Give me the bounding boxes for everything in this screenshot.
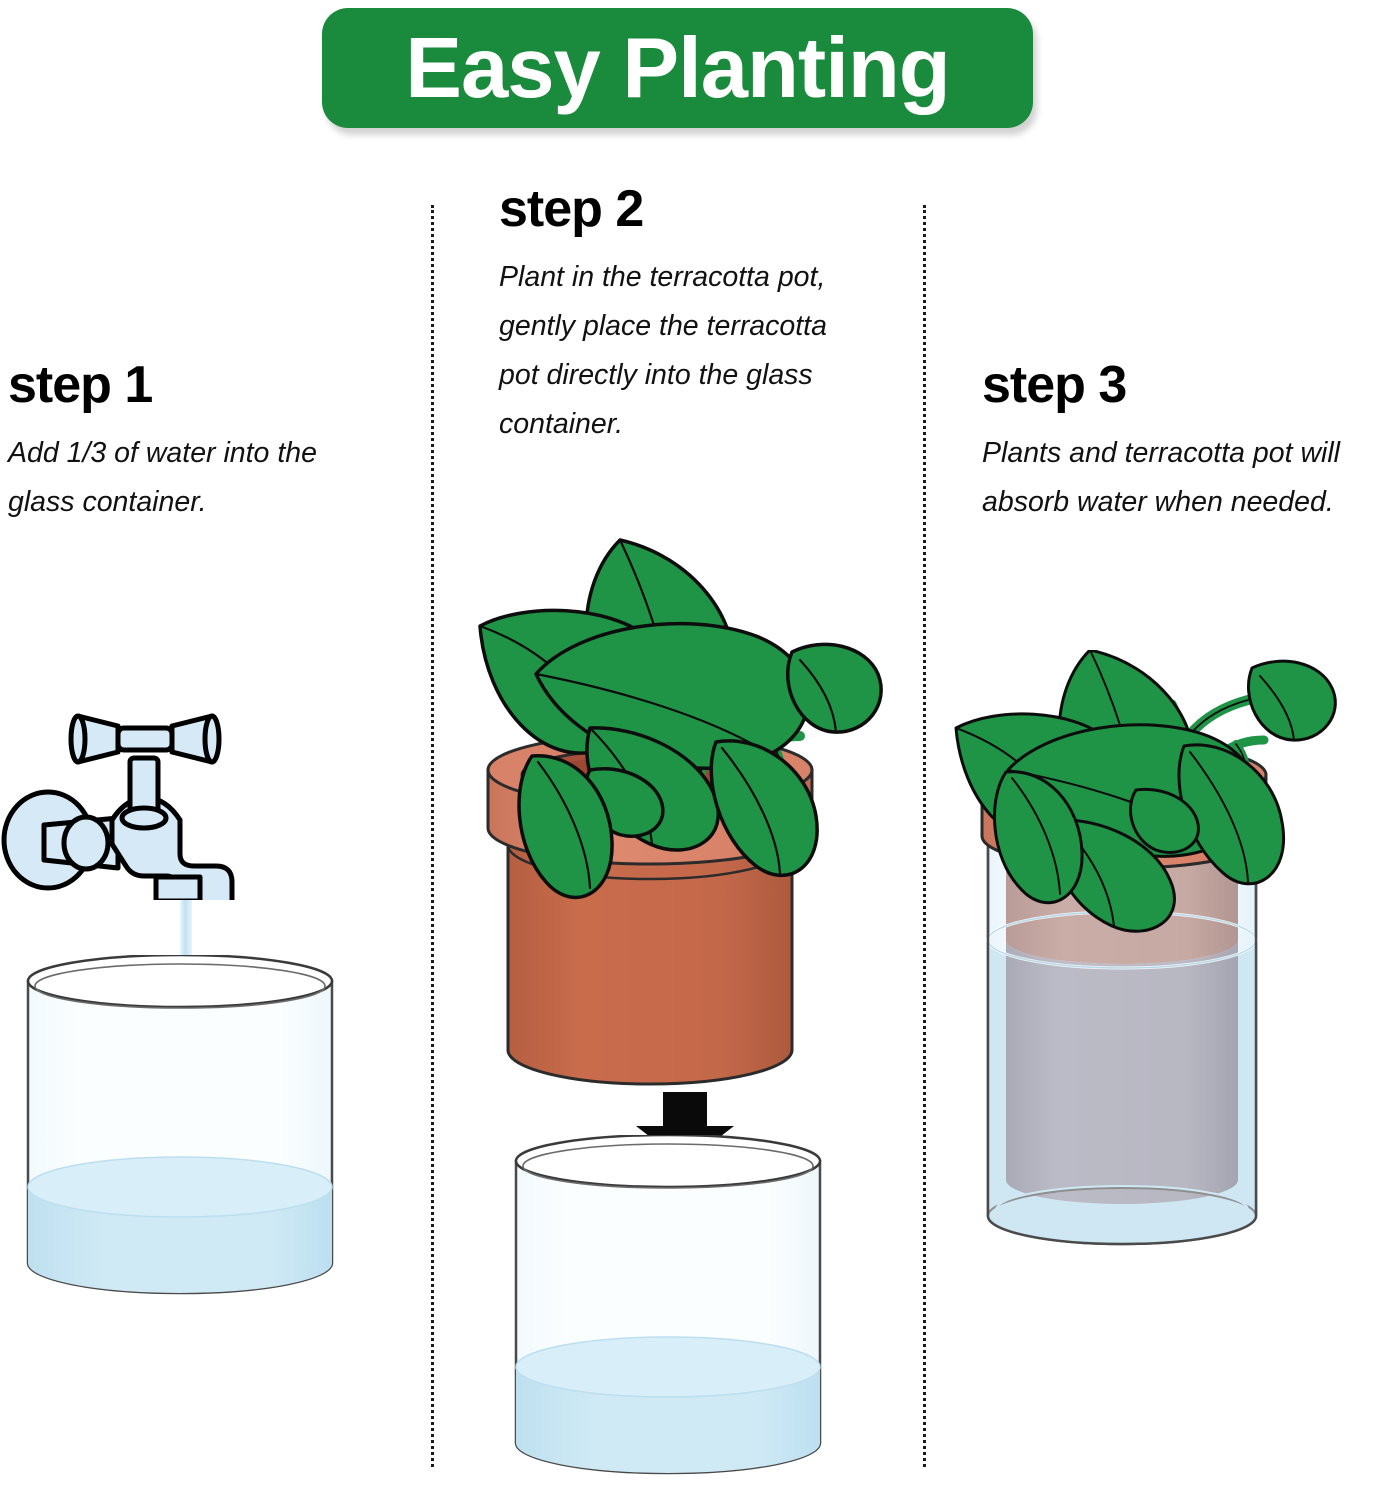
glass-container-step-2 bbox=[508, 1135, 828, 1475]
step-3-text-block: step 3 Plants and terracotta pot will ab… bbox=[982, 358, 1354, 527]
pot-in-glass-assembly-step-3 bbox=[940, 650, 1380, 1310]
glass-container-step-1 bbox=[20, 955, 340, 1295]
column-divider-1 bbox=[431, 205, 434, 1467]
step-1-body: Add 1/3 of water into the glass containe… bbox=[8, 429, 378, 527]
page-title: Easy Planting bbox=[405, 26, 949, 111]
title-banner: Easy Planting bbox=[322, 8, 1033, 128]
step-1-text-block: step 1 Add 1/3 of water into the glass c… bbox=[8, 358, 378, 527]
step-2-text-block: step 2 Plant in the terracotta pot, gent… bbox=[499, 182, 869, 449]
step-2-body: Plant in the terracotta pot, gently plac… bbox=[499, 253, 869, 449]
infographic-page: Easy Planting step 1 Add 1/3 of water in… bbox=[0, 0, 1387, 1500]
faucet-icon bbox=[0, 700, 266, 900]
step-1-heading: step 1 bbox=[8, 358, 378, 413]
potted-plant-step-2 bbox=[470, 490, 910, 1110]
step-2-heading: step 2 bbox=[499, 182, 869, 237]
plant-leaves bbox=[480, 540, 881, 897]
step-3-heading: step 3 bbox=[982, 358, 1354, 413]
step-3-body: Plants and terracotta pot will absorb wa… bbox=[982, 429, 1354, 527]
column-divider-2 bbox=[923, 205, 926, 1467]
